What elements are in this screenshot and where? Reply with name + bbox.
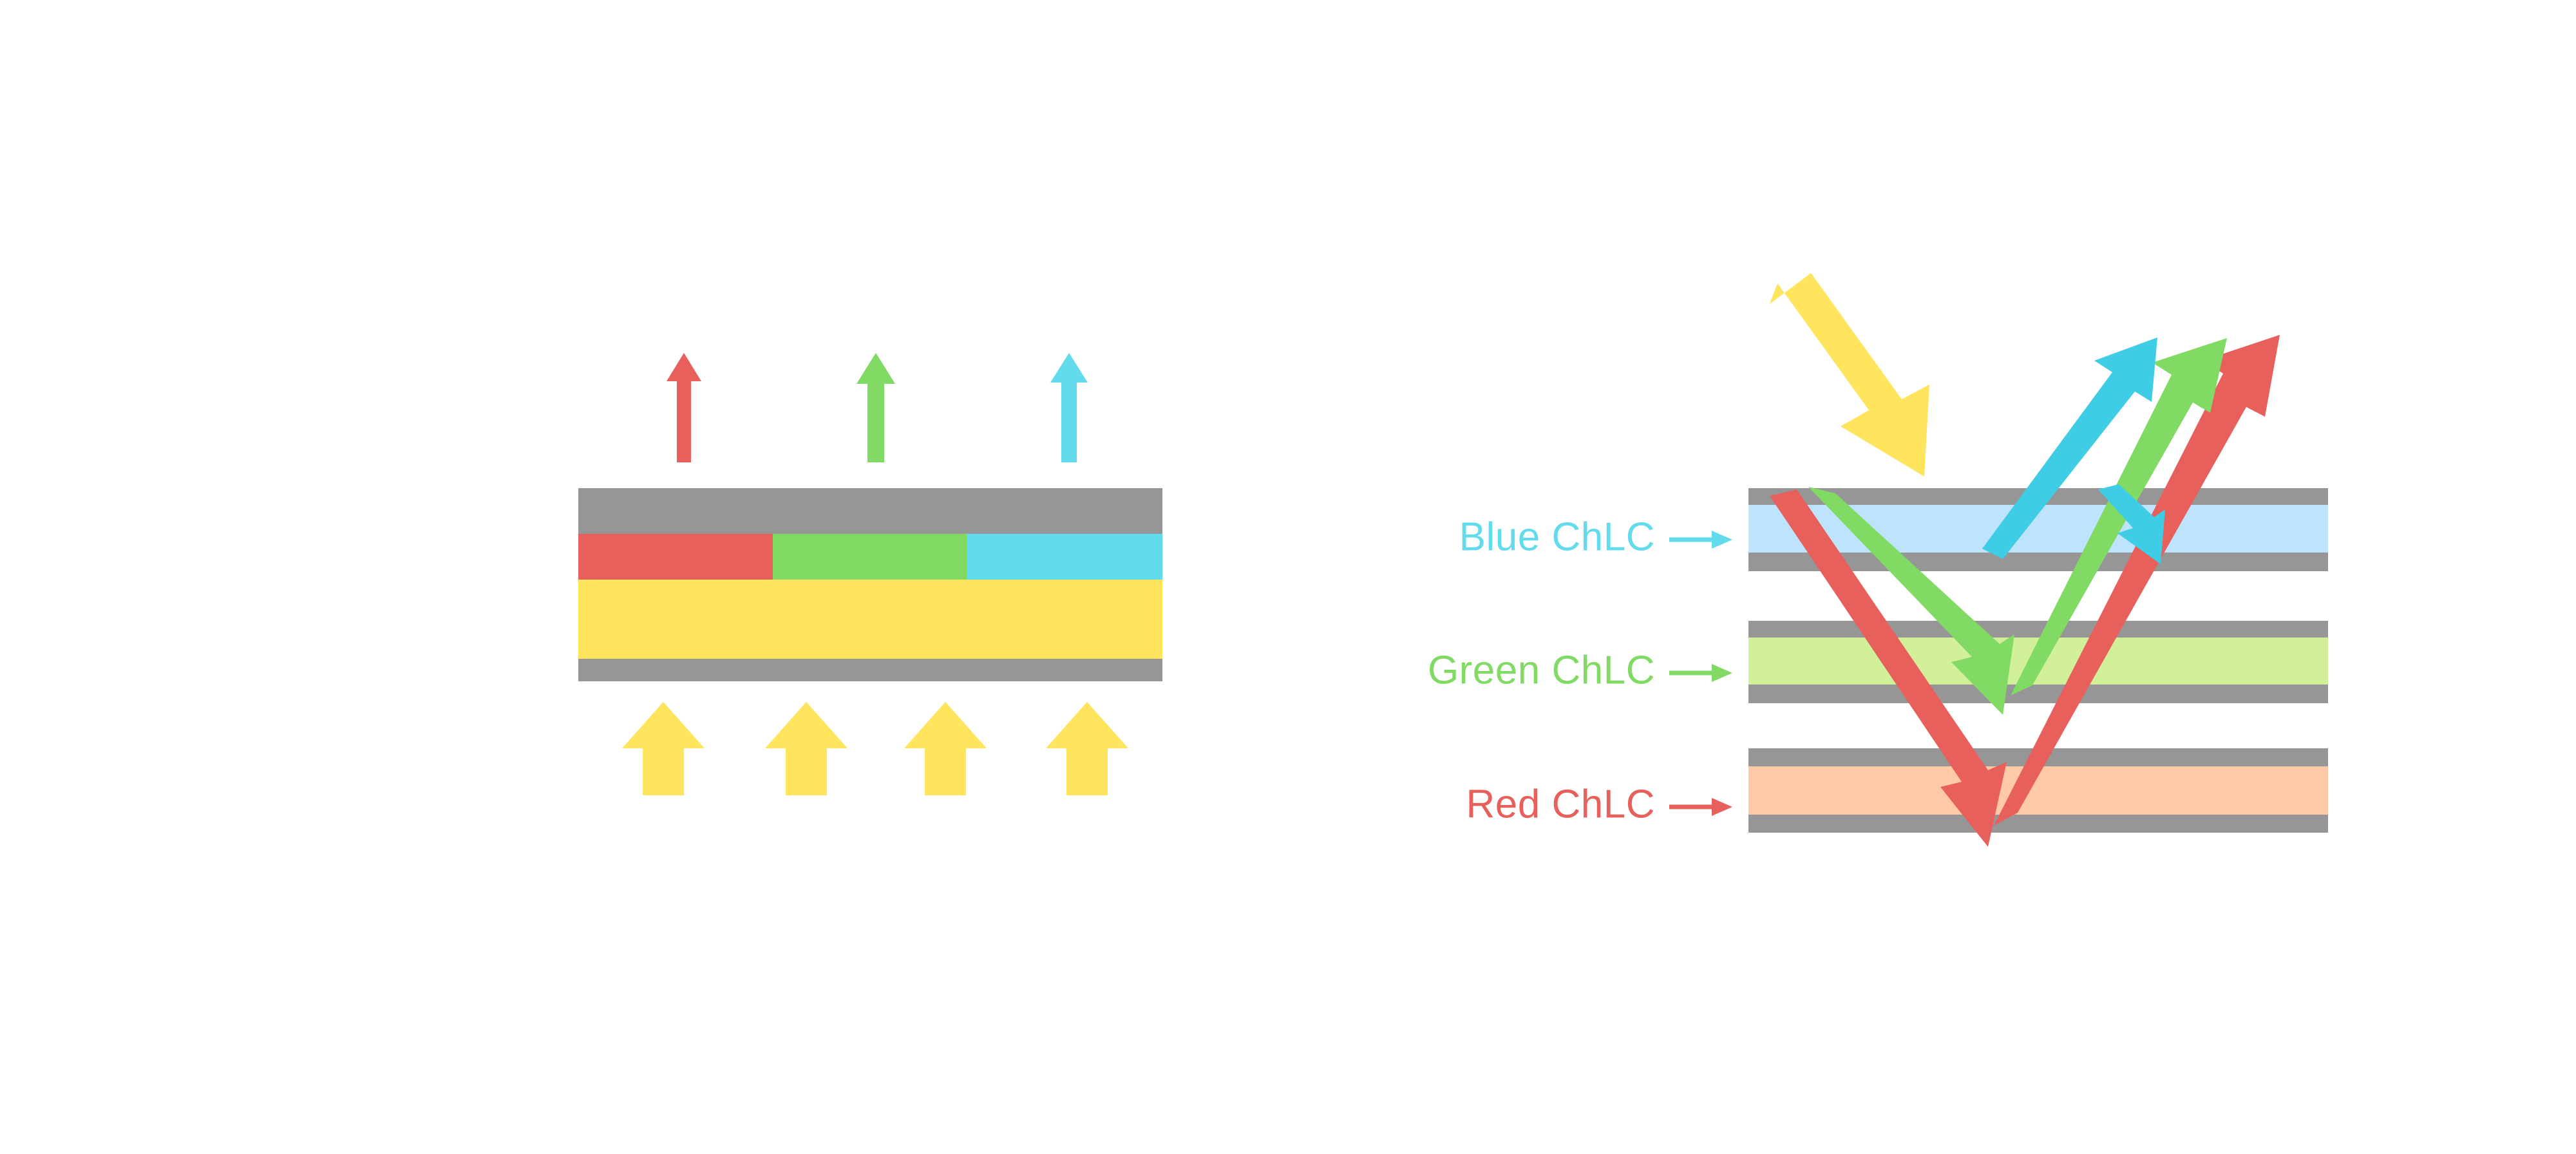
backlight-arrows-group	[622, 702, 1128, 795]
green-chlc-label-group: Green ChLC	[1428, 648, 1732, 692]
figure-canvas: Blue ChLC Green ChLC Red ChLC	[0, 0, 2576, 1154]
red-chlc-label: Red ChLC	[1466, 782, 1655, 826]
green-emitted-arrow	[857, 353, 895, 462]
red-subpixel-layer	[578, 534, 773, 580]
left-panel	[578, 353, 1162, 795]
green-subpixel-layer	[773, 534, 967, 580]
top-electrode-layer	[578, 488, 1162, 534]
red-emitted-arrow	[667, 353, 701, 462]
blue-emitted-arrow	[1050, 353, 1088, 462]
red-chlc-label-arrow-icon	[1669, 798, 1732, 816]
diagram-svg: Blue ChLC Green ChLC Red ChLC	[0, 0, 2576, 1154]
white-light-incident-arrow	[1770, 273, 1929, 477]
backlight-arrow-4	[1046, 702, 1128, 795]
bottom-electrode-layer	[578, 659, 1162, 681]
emitted-arrows-group	[667, 353, 1088, 462]
green-chlc-label-arrow-icon	[1669, 664, 1732, 682]
red-cell-bottom-electrode	[1748, 815, 2328, 833]
backlight-arrow-1	[622, 702, 705, 795]
green-cell-bottom-electrode	[1748, 685, 2328, 703]
backlight-arrow-2	[765, 702, 848, 795]
green-chlc-label: Green ChLC	[1428, 648, 1655, 692]
blue-chlc-label-arrow-icon	[1669, 531, 1732, 549]
blue-chlc-label: Blue ChLC	[1459, 515, 1655, 559]
green-cell-top-electrode	[1748, 621, 2328, 638]
backlight-arrow-3	[904, 702, 987, 795]
blue-chlc-label-group: Blue ChLC	[1459, 515, 1732, 559]
yellow-backlight-layer	[578, 580, 1162, 659]
right-panel: Blue ChLC Green ChLC Red ChLC	[1428, 273, 2328, 847]
red-chlc-label-group: Red ChLC	[1466, 782, 1732, 826]
blue-subpixel-layer	[967, 534, 1162, 580]
left-stack-layers	[578, 488, 1162, 681]
